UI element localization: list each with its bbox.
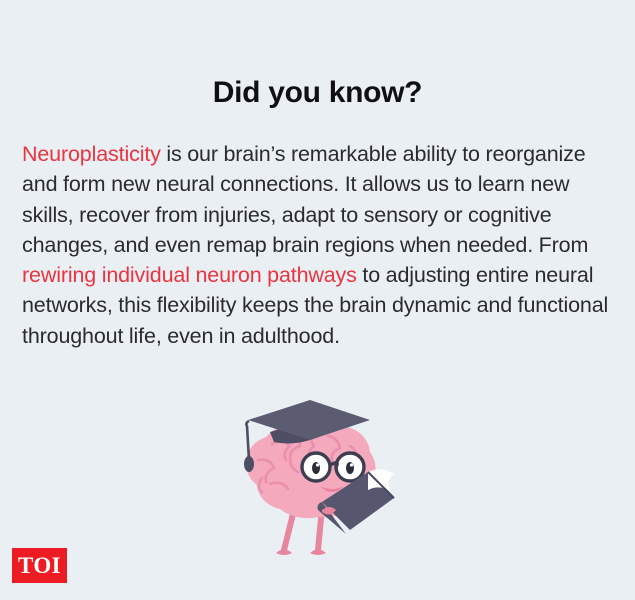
body-text: Neuroplasticity is our brain’s remarkabl… xyxy=(0,110,635,351)
toi-logo[interactable]: TOI xyxy=(12,548,67,583)
accent-term-neuroplasticity: Neuroplasticity xyxy=(22,142,161,166)
page-title: Did you know? xyxy=(0,0,635,110)
accent-term-rewiring-pathways: rewiring individual neuron pathways xyxy=(22,263,357,287)
info-card: Did you know? Neuroplasticity is our bra… xyxy=(0,0,635,600)
illustration-container xyxy=(0,398,635,573)
graduate-brain-icon xyxy=(218,398,418,573)
toi-logo-text: TOI xyxy=(18,554,61,577)
